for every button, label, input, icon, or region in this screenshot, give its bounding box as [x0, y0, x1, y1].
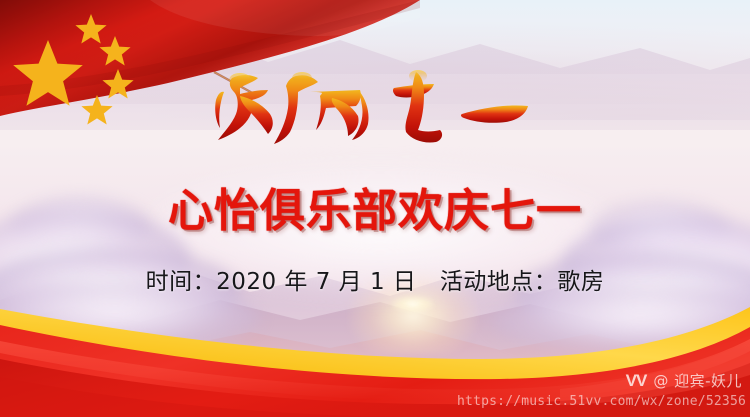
calligraphy-title-wrap	[0, 62, 750, 154]
main-title: 心怡俱乐部欢庆七一	[0, 183, 750, 239]
watermark-url: https://music.51vv.com/wx/zone/52356	[457, 394, 746, 409]
poster-canvas: 心怡俱乐部欢庆七一 时间：2020 年 7 月 1 日 活动地点：歌房	[0, 0, 750, 417]
watermark-handle: @ 迎宾-妖儿	[653, 370, 742, 391]
vv-logo-icon: VV	[626, 371, 647, 391]
watermark-user: VV @ 迎宾-妖儿	[626, 370, 742, 391]
calligraphy-title-庆祝七一	[210, 62, 540, 154]
event-info-subtitle: 时间：2020 年 7 月 1 日 活动地点：歌房	[0, 262, 750, 296]
